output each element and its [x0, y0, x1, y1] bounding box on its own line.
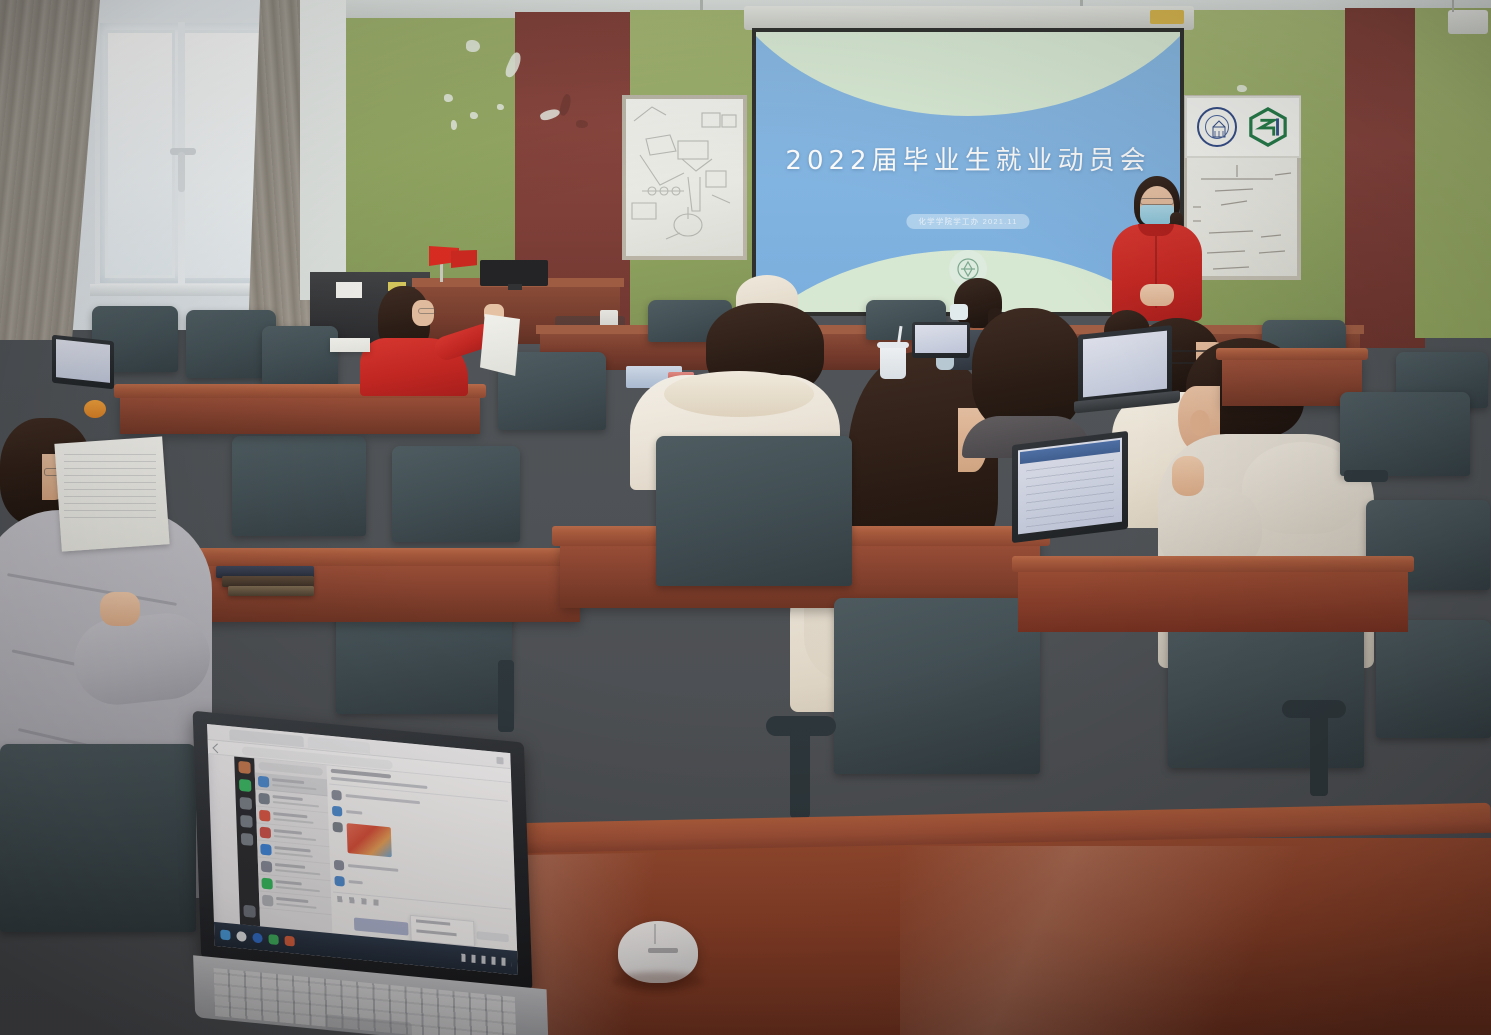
mid-desk-panel-right [1018, 568, 1408, 632]
attendee-laptop-center[interactable] [1012, 438, 1134, 548]
laptop-screen [915, 325, 967, 353]
avatar [260, 827, 271, 839]
rail-icon-contacts[interactable] [240, 797, 252, 810]
document-text-lines [64, 452, 156, 518]
desk-right-back-top [1216, 348, 1368, 360]
chair-right-1[interactable] [1340, 392, 1470, 476]
rail-icon-avatar[interactable] [238, 761, 250, 774]
presenter-glasses [1140, 198, 1174, 205]
paint-chip [470, 112, 478, 119]
notebook-stack [228, 586, 314, 596]
chair-right-front[interactable] [1168, 616, 1364, 768]
avatar [334, 876, 344, 887]
whiteboard-left [622, 95, 747, 260]
paint-chip [444, 94, 453, 102]
chair-left-3[interactable] [262, 326, 338, 386]
chair-left-5[interactable] [232, 436, 366, 536]
avatar [258, 776, 269, 788]
projection-screen-knob[interactable] [1150, 10, 1184, 24]
avatar [259, 810, 270, 822]
taskbar-search-icon[interactable] [236, 931, 246, 942]
window-handle-stem[interactable] [178, 152, 185, 192]
orange-snack [84, 400, 106, 418]
whiteboard-left-sketches [626, 99, 743, 256]
chat-name [275, 863, 305, 869]
message-text [349, 880, 363, 884]
avatar [260, 844, 271, 856]
avatar [331, 790, 341, 801]
wall-maroon-column [1345, 8, 1425, 348]
chat-preview [273, 818, 313, 824]
mouse-brand-mark [648, 948, 678, 953]
message-text [346, 810, 362, 815]
chat-preview [272, 784, 316, 790]
window-pane-left [105, 30, 175, 278]
avatar [262, 895, 273, 907]
ceiling-light-fixture [1448, 10, 1488, 34]
laptop-doc-body [1026, 459, 1114, 528]
presenter-mask [1140, 205, 1174, 225]
attendee-laptop-back[interactable] [912, 322, 972, 366]
desk-paper-left [330, 338, 370, 352]
slide-subtitle: 化学学院学工办 2021.11 [906, 214, 1029, 229]
mid-right-hair [972, 308, 1084, 432]
presenter-jacket [1112, 224, 1202, 321]
chair-front-center-2[interactable] [834, 598, 1040, 774]
attendee-laptop-right[interactable] [1078, 330, 1176, 414]
laptop-screen[interactable] [207, 724, 518, 975]
chat-name [274, 846, 310, 852]
logo-plate [1185, 96, 1301, 158]
chat-preview [276, 886, 320, 892]
person-red-glasses [418, 308, 436, 314]
hoodie-male-ear [1190, 410, 1210, 436]
chat-preview [276, 903, 316, 909]
mouse-shadow [612, 972, 704, 990]
chair-right-front-post [1310, 714, 1328, 796]
avatar [258, 793, 269, 805]
paint-chip [576, 120, 588, 128]
taskbar-app-icon[interactable] [268, 934, 278, 945]
message-image-thumbnail[interactable] [347, 823, 392, 857]
interior-wall-light [300, 0, 346, 300]
classroom-photo-scene: 2022届毕业生就业动员会 化学学院学工办 2021.11 [0, 0, 1491, 1035]
chair-front-center-2-post [790, 730, 810, 818]
foreground-laptop[interactable] [185, 720, 564, 1035]
podium-monitor [480, 260, 548, 286]
taskbar-start-icon[interactable] [220, 929, 230, 940]
paint-chip [497, 104, 504, 110]
slide-arc-top [752, 28, 1184, 116]
attendee-laptop-far-left[interactable] [52, 338, 118, 398]
chair-right-3[interactable] [1376, 620, 1491, 738]
projection-screen-housing [744, 6, 1194, 30]
rail-icon-favorites[interactable] [241, 833, 253, 846]
avatar [332, 806, 342, 817]
chat-preview [273, 801, 319, 807]
paper-cup [880, 345, 906, 379]
chinese-flag [451, 250, 477, 268]
chat-name [276, 897, 308, 903]
message-text [348, 864, 398, 872]
chat-name [276, 880, 302, 886]
hoodie-male-hand [1172, 456, 1204, 496]
presenter-hands [1140, 284, 1174, 306]
gray-coat-hand [100, 592, 140, 626]
chair-left-front[interactable] [0, 744, 196, 932]
taskbar-app-icon[interactable] [284, 936, 294, 947]
presenter [1104, 176, 1208, 321]
rail-icon-chat[interactable] [239, 779, 251, 792]
paint-chip [1237, 85, 1247, 92]
ceiling-light-cord [1452, 0, 1454, 12]
person-front-left-red [356, 286, 526, 396]
avatar [261, 878, 272, 890]
paper-cup-lid [877, 342, 909, 348]
avatar [261, 861, 272, 873]
person-mid-right-long-hair [962, 308, 1094, 458]
chair-right-1-arm [1344, 470, 1388, 482]
mouse-button-seam [654, 924, 656, 944]
chat-name [273, 795, 303, 801]
laptop-screen [1083, 331, 1167, 398]
window-close-icon[interactable] [496, 757, 503, 765]
front-desk-sheen [900, 846, 1491, 1035]
laptop-screen [56, 339, 110, 383]
chat-preview [275, 869, 320, 875]
held-paper [480, 314, 520, 376]
paint-chip [451, 120, 457, 130]
chat-name [273, 812, 307, 818]
department-hex-logo [1247, 107, 1289, 147]
paint-chip [466, 40, 480, 52]
taskbar-app-icon[interactable] [252, 933, 262, 944]
rail-icon-settings[interactable] [243, 905, 255, 918]
wall-green-panel [1415, 8, 1491, 338]
chair-front-center[interactable] [656, 436, 852, 586]
avatar [333, 822, 343, 833]
chair-left-6[interactable] [392, 446, 520, 542]
chat-name [274, 829, 302, 835]
chat-preview [274, 835, 316, 841]
university-seal-logo [1197, 107, 1237, 147]
mid-desk-panel-right-top [1012, 556, 1414, 572]
avatar [334, 860, 344, 871]
slide-title: 2022届毕业生就业动员会 [756, 140, 1180, 177]
rail-icon-files[interactable] [240, 815, 252, 828]
chat-preview [275, 852, 313, 858]
chat-name [272, 778, 304, 784]
